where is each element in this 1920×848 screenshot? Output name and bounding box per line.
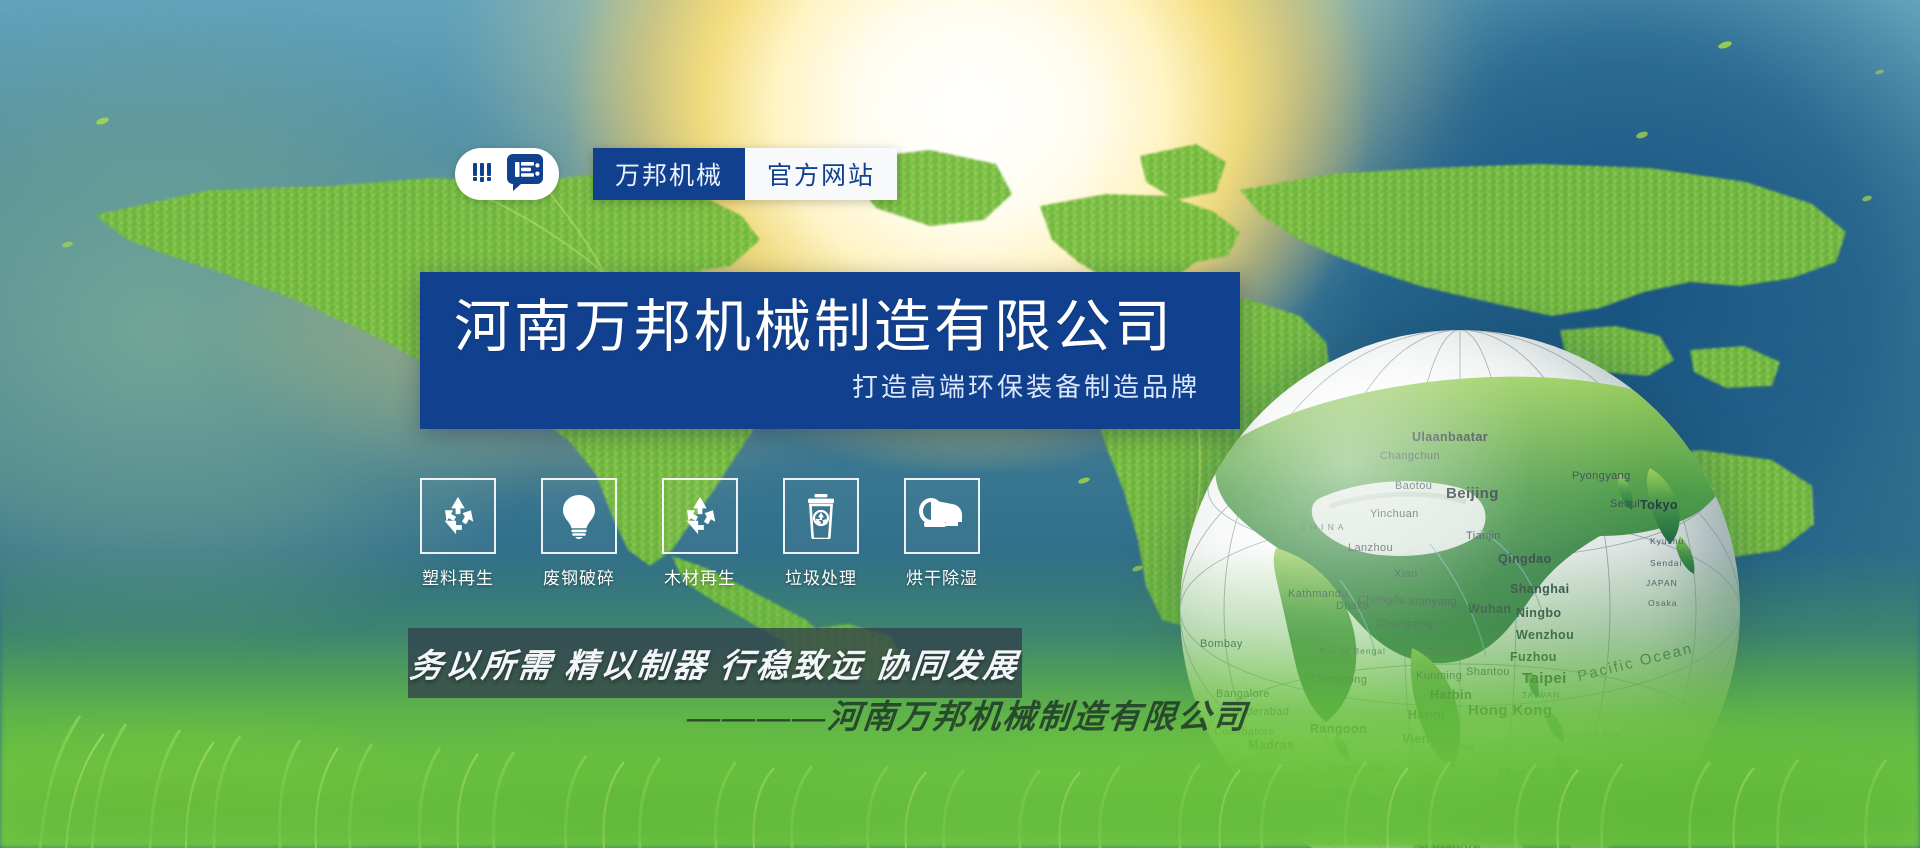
site-header: 万邦机械 官方网站 [455,148,897,200]
recycle-icon [435,493,481,539]
globe-city-label: Beijing [1446,485,1499,502]
icon-box[interactable] [541,478,617,554]
slogan-attribution: ————河南万邦机械制造有限公司 [685,690,1250,738]
slogan-bar: 务以所需 精以制器 行稳致远 协同发展 [408,628,1022,698]
globe-city-label: Yinchuan [1370,508,1419,520]
slogan-text: 务以所需 精以制器 行稳致远 协同发展 [408,639,1023,687]
dryer-drum-icon [918,498,966,534]
service-label: 废钢破碎 [543,564,615,589]
nav-item-official-site[interactable]: 官方网站 [745,148,897,200]
service-icon-row: 塑料再生 废钢破碎 [422,478,978,589]
icon-box[interactable] [783,478,859,554]
service-label: 塑料再生 [422,564,494,589]
service-item-plastic-recycling[interactable]: 塑料再生 [422,478,494,589]
recycle-icon [677,493,723,539]
globe-city-label: Changchun [1380,450,1440,462]
globe-city-label: Ulaanbaatar [1412,430,1488,444]
trash-bin-icon [804,493,838,539]
service-item-waste-treatment[interactable]: 垃圾处理 [785,478,857,589]
icon-box[interactable] [420,478,496,554]
service-item-scrap-steel-crushing[interactable]: 废钢破碎 [543,478,615,589]
globe-city-label: Baotou [1395,480,1432,492]
service-label: 木材再生 [664,564,736,589]
header-nav: 万邦机械 官方网站 [593,148,897,200]
service-item-drying-dehumidify[interactable]: 烘干除湿 [906,478,978,589]
logo-w-icon [469,157,499,192]
globe-city-label: Pyongyang [1572,470,1631,482]
logo-b-icon [505,152,545,197]
hero-banner: Ulaanbaatar Beijing Baotou Yinchuan Lanz… [0,0,1920,848]
service-label: 垃圾处理 [785,564,857,589]
page-subtitle: 打造高端环保装备制造品牌 [420,357,1240,404]
globe-region-label: Kyushu [1650,536,1684,546]
icon-box[interactable] [904,478,980,554]
logo[interactable] [455,148,559,200]
globe-city-label: Seoul [1610,498,1640,510]
page-title: 河南万邦机械制造有限公司 [420,297,1240,357]
icon-box[interactable] [662,478,738,554]
nav-item-brand[interactable]: 万邦机械 [593,148,745,200]
service-label: 烘干除湿 [906,564,978,589]
title-banner: 河南万邦机械制造有限公司 打造高端环保装备制造品牌 [420,272,1240,429]
grass-shadow [0,728,1920,848]
globe-city-label: Tianjin [1466,530,1501,542]
lightbulb-icon [558,493,600,539]
service-item-wood-recycling[interactable]: 木材再生 [664,478,736,589]
globe-city-label: Tokyo [1640,498,1678,512]
globe-region-label: C H I N A [1300,522,1344,532]
